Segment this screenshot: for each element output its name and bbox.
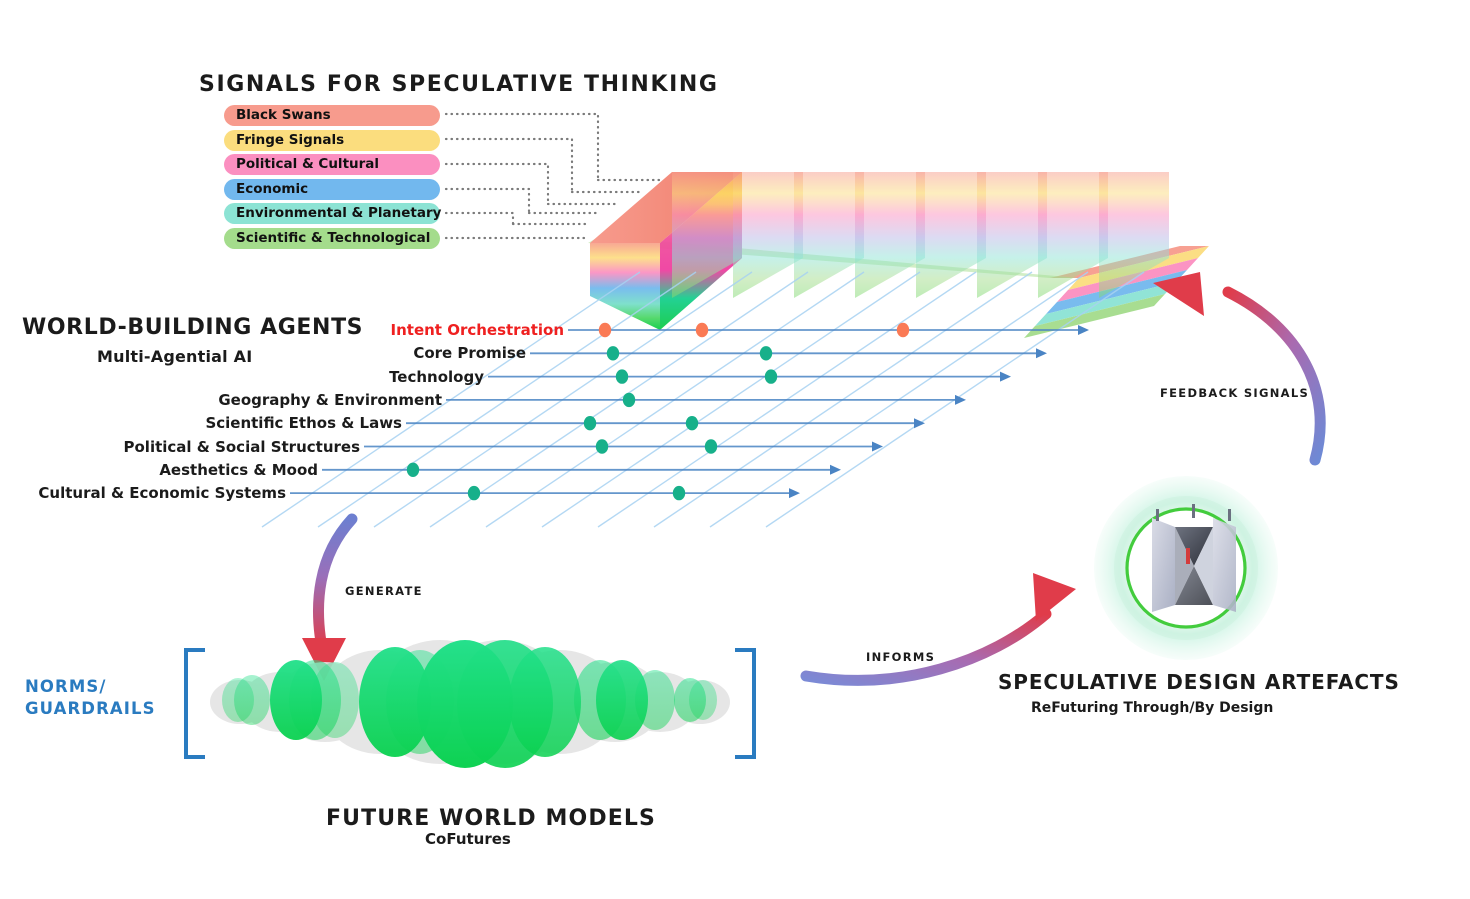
feedback-arrow	[1153, 272, 1320, 460]
agent-milestone-dot[interactable]	[596, 439, 608, 453]
agent-timeline-arrowhead	[1000, 372, 1011, 382]
diagram-canvas: SIGNALS FOR SPECULATIVE THINKING Black S…	[0, 0, 1470, 899]
agent-milestone-dot[interactable]	[673, 486, 685, 500]
feedback-signals-label: FEEDBACK SIGNALS	[1160, 386, 1309, 400]
agent-row-label: Intent Orchestration	[0, 321, 564, 339]
artefacts-subtitle: ReFuturing Through/By Design	[1031, 700, 1273, 716]
agent-timeline-arrowhead	[914, 418, 925, 428]
agent-milestone-dot[interactable]	[696, 323, 708, 337]
agent-milestone-dot[interactable]	[897, 323, 909, 337]
agent-milestone-dot[interactable]	[584, 416, 596, 430]
future-panel-stack	[588, 172, 1209, 338]
agent-milestone-dot[interactable]	[616, 369, 628, 383]
artefact-badge	[1094, 476, 1278, 660]
signal-pill[interactable]: Political & Cultural	[224, 154, 440, 175]
future-world-models-subtitle: CoFutures	[425, 830, 511, 848]
signal-pill[interactable]: Environmental & Planetary	[224, 203, 440, 224]
informs-label: INFORMS	[866, 650, 935, 664]
norms-line-2: GUARDRAILS	[25, 699, 156, 718]
agent-milestone-dot[interactable]	[407, 463, 419, 477]
signal-pill[interactable]: Economic	[224, 179, 440, 200]
norms-guardrails-label: NORMS/ GUARDRAILS	[25, 676, 156, 720]
agent-timeline-arrowhead	[1078, 325, 1089, 335]
signal-pill[interactable]: Fringe Signals	[224, 130, 440, 151]
signal-pill[interactable]: Scientific & Technological	[224, 228, 440, 249]
agent-milestone-dot[interactable]	[468, 486, 480, 500]
signals-title: SIGNALS FOR SPECULATIVE THINKING	[199, 72, 719, 97]
agent-milestone-dot[interactable]	[765, 369, 777, 383]
agent-milestone-dot[interactable]	[760, 346, 772, 360]
agent-timeline-arrowhead	[1036, 348, 1047, 358]
generate-arrow	[302, 519, 352, 681]
agent-row-label: Scientific Ethos & Laws	[0, 414, 402, 432]
agent-row-label: Core Promise	[0, 344, 526, 362]
informs-arrow	[806, 573, 1076, 680]
agent-milestone-dot[interactable]	[705, 439, 717, 453]
agent-milestone-dot[interactable]	[686, 416, 698, 430]
agent-row-label: Aesthetics & Mood	[0, 461, 318, 479]
agent-timeline-arrowhead	[830, 465, 841, 475]
agent-row-label: Cultural & Economic Systems	[0, 484, 286, 502]
agent-milestone-dot[interactable]	[623, 393, 635, 407]
agent-row-label: Political & Social Structures	[0, 438, 360, 456]
artefacts-title: SPECULATIVE DESIGN ARTEFACTS	[998, 670, 1400, 694]
agent-row-label: Geography & Environment	[0, 391, 442, 409]
agent-milestone-dot[interactable]	[599, 323, 611, 337]
signal-pill[interactable]: Black Swans	[224, 105, 440, 126]
future-world-models-cluster	[186, 640, 754, 768]
agent-milestone-dot[interactable]	[607, 346, 619, 360]
future-world-models-title: FUTURE WORLD MODELS	[326, 806, 656, 831]
generate-label: GENERATE	[345, 584, 423, 598]
agent-timeline-arrowhead	[789, 488, 800, 498]
agent-row-label: Technology	[0, 368, 484, 386]
norms-line-1: NORMS/	[25, 677, 106, 696]
